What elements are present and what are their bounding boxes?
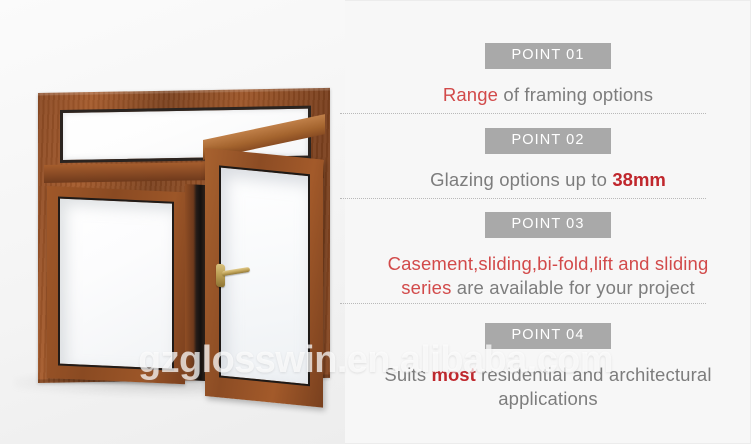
point-text-2: Glazing options up to 38mm	[345, 168, 751, 192]
point-text-4: Suits most residential and architectural…	[345, 363, 751, 411]
point-1-red: Range	[443, 84, 498, 105]
point-4-gray-line2: applications	[498, 388, 598, 409]
feature-point-1: POINT 01 Range of framing options	[345, 43, 751, 107]
feature-point-3: POINT 03 Casement,sliding,bi-fold,lift a…	[345, 212, 751, 300]
point-badge-2: POINT 02	[485, 128, 610, 154]
window-illustration	[0, 0, 345, 444]
separator-1	[340, 113, 706, 114]
fixed-left-sash	[47, 186, 185, 384]
point-4-gray-b: residential and architectural	[476, 364, 712, 385]
feature-point-2: POINT 02 Glazing options up to 38mm	[345, 128, 751, 192]
promo-banner: POINT 01 Range of framing options POINT …	[0, 0, 751, 444]
feature-point-4: POINT 04 Suits most residential and arch…	[345, 323, 751, 411]
product-photo-pane	[0, 0, 345, 444]
separator-2	[340, 198, 706, 199]
window-mullion	[185, 184, 207, 381]
point-badge-3: POINT 03	[485, 212, 610, 238]
point-3-gray: are available for your project	[452, 277, 695, 298]
point-badge-1: POINT 01	[485, 43, 610, 69]
point-2-red-strong: 38mm	[612, 169, 665, 190]
point-3-red-line1: Casement,sliding,bi-fold,lift and slidin…	[388, 253, 709, 274]
point-4-gray-a: Suits	[384, 364, 431, 385]
point-3-red-line2: series	[401, 277, 451, 298]
fixed-sash-glass	[58, 196, 174, 370]
point-text-3: Casement,sliding,bi-fold,lift and slidin…	[345, 252, 751, 300]
feature-points-panel: POINT 01 Range of framing options POINT …	[345, 0, 751, 444]
point-2-gray: Glazing options up to	[430, 169, 612, 190]
point-1-gray: of framing options	[498, 84, 653, 105]
separator-3	[340, 303, 706, 304]
point-4-red-strong: most	[432, 364, 476, 385]
point-badge-4: POINT 04	[485, 323, 610, 349]
point-text-1: Range of framing options	[345, 83, 751, 107]
casement-glass	[219, 165, 310, 386]
